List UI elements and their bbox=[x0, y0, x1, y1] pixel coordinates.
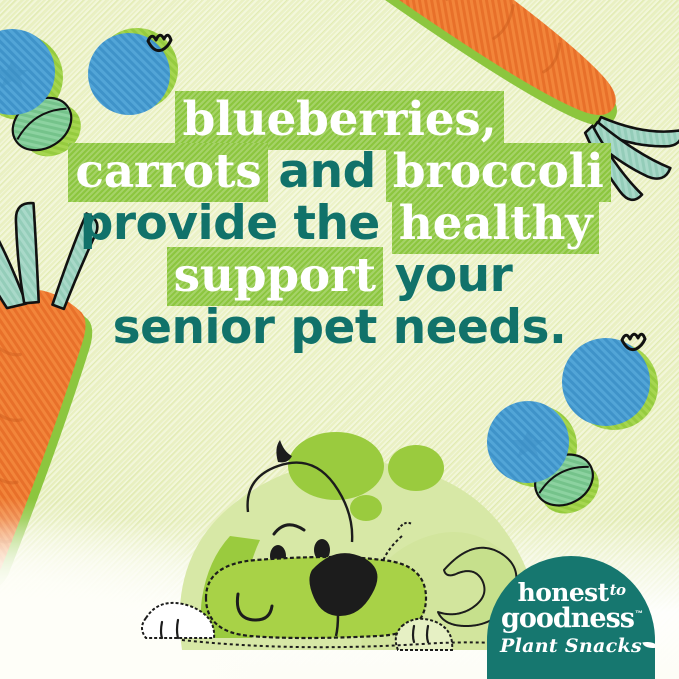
ad-canvas: blueberries, carrotsandbroccoli provide … bbox=[0, 0, 679, 679]
headline-word-blueberries: blueberries, bbox=[175, 91, 503, 150]
headline-line-5: senior pet needs. bbox=[0, 304, 679, 351]
headline-word-carrots: carrots bbox=[68, 143, 268, 202]
trademark-icon: ™ bbox=[635, 609, 642, 618]
headline-line-3: provide thehealthy bbox=[0, 200, 679, 247]
headline-word-broccoli: broccoli bbox=[386, 143, 611, 202]
brand-logo-tagline: Plant Snacks bbox=[500, 637, 642, 656]
headline-line-2: carrotsandbroccoli bbox=[0, 148, 679, 195]
brand-logo-content: honestto goodness™ Plant Snacks bbox=[487, 582, 655, 657]
headline-phrase-senior-pet-needs: senior pet needs. bbox=[113, 300, 567, 355]
leaf-icon bbox=[642, 640, 655, 651]
headline-word-your: your bbox=[395, 248, 513, 303]
headline-word-healthy: healthy bbox=[392, 195, 599, 254]
headline-word-support: support bbox=[167, 247, 383, 306]
headline-line-4: supportyour bbox=[0, 252, 679, 299]
brand-logo-to: to bbox=[610, 581, 626, 599]
headline-block: blueberries, carrotsandbroccoli provide … bbox=[0, 96, 679, 351]
headline-phrase-provide-the: provide the bbox=[80, 196, 380, 251]
headline-word-and: and bbox=[268, 144, 385, 199]
brand-logo-line-goodness: goodness™ bbox=[501, 607, 641, 631]
brand-logo-line-honest: honestto bbox=[518, 582, 625, 604]
headline-line-1: blueberries, bbox=[0, 96, 679, 143]
